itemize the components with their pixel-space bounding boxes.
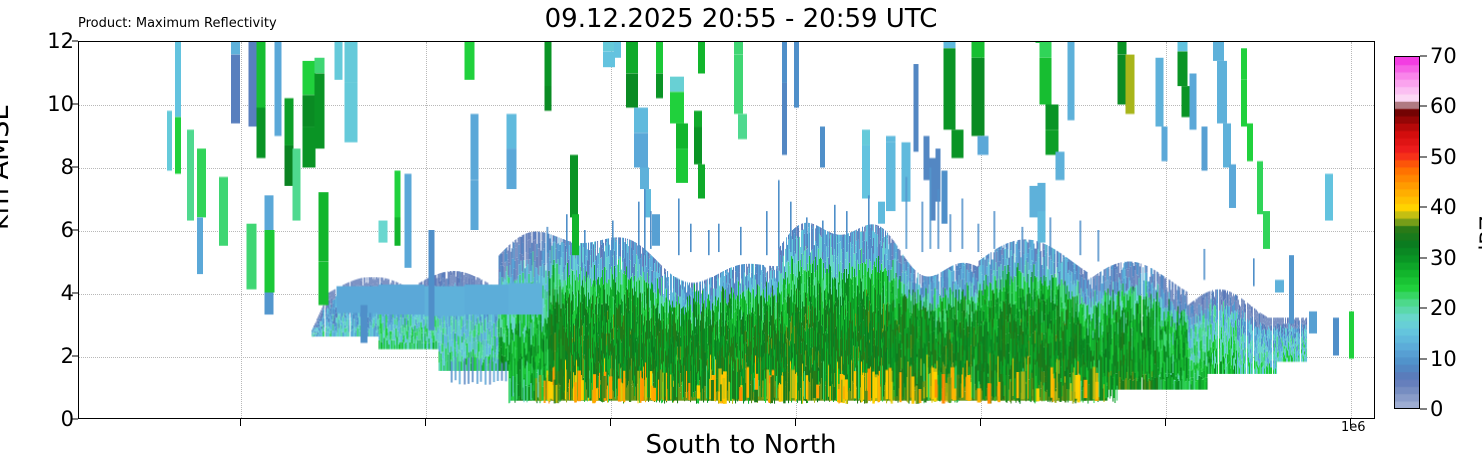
x-tick-mark (980, 419, 981, 426)
colorbar (1394, 56, 1420, 409)
y-tick-mark (72, 167, 78, 168)
colorbar-tick-label: 30 (1430, 246, 1457, 270)
x-tick-mark (240, 419, 241, 426)
colorbar-tick-label: 60 (1430, 94, 1457, 118)
y-tick-mark (72, 419, 78, 420)
reflectivity-canvas (79, 42, 1374, 418)
plot-area (78, 41, 1375, 419)
x-axis-label: South to North (0, 430, 1482, 460)
colorbar-tick-mark (1420, 409, 1427, 410)
x-tick-mark (610, 419, 611, 426)
colorbar-tick-label: 20 (1430, 296, 1457, 320)
colorbar-tick-mark (1420, 207, 1427, 208)
colorbar-tick-mark (1420, 358, 1427, 359)
y-tick-mark (72, 41, 78, 42)
x-tick-mark (1350, 419, 1351, 426)
product-label: Product: Maximum Reflectivity (78, 16, 277, 31)
colorbar-tick-mark (1420, 308, 1427, 309)
x-tick-mark (425, 419, 426, 426)
reflectivity-field (79, 42, 1374, 418)
y-axis-label: km AMSL (0, 106, 15, 230)
y-tick-mark (72, 104, 78, 105)
colorbar-gradient (1395, 57, 1419, 408)
colorbar-tick-mark (1420, 257, 1427, 258)
x-axis-offset-text: 1e6 (1341, 420, 1366, 435)
x-tick-mark (1165, 419, 1166, 426)
colorbar-label: dBZ (1476, 216, 1482, 258)
y-tick-mark (72, 230, 78, 231)
colorbar-tick-label: 10 (1430, 347, 1457, 371)
x-tick-mark (795, 419, 796, 426)
radar-cross-section-figure: 09.12.2025 20:55 - 20:59 UTC Product: Ma… (0, 0, 1482, 470)
y-tick-mark (72, 356, 78, 357)
y-tick-label: 10 (47, 92, 74, 116)
colorbar-tick-label: 50 (1430, 145, 1457, 169)
colorbar-tick-label: 40 (1430, 195, 1457, 219)
colorbar-tick-mark (1420, 106, 1427, 107)
y-tick-label: 12 (47, 29, 74, 53)
y-tick-mark (72, 293, 78, 294)
colorbar-tick-label: 0 (1430, 397, 1443, 421)
colorbar-tick-mark (1420, 56, 1427, 57)
colorbar-tick-label: 70 (1430, 44, 1457, 68)
colorbar-tick-mark (1420, 156, 1427, 157)
